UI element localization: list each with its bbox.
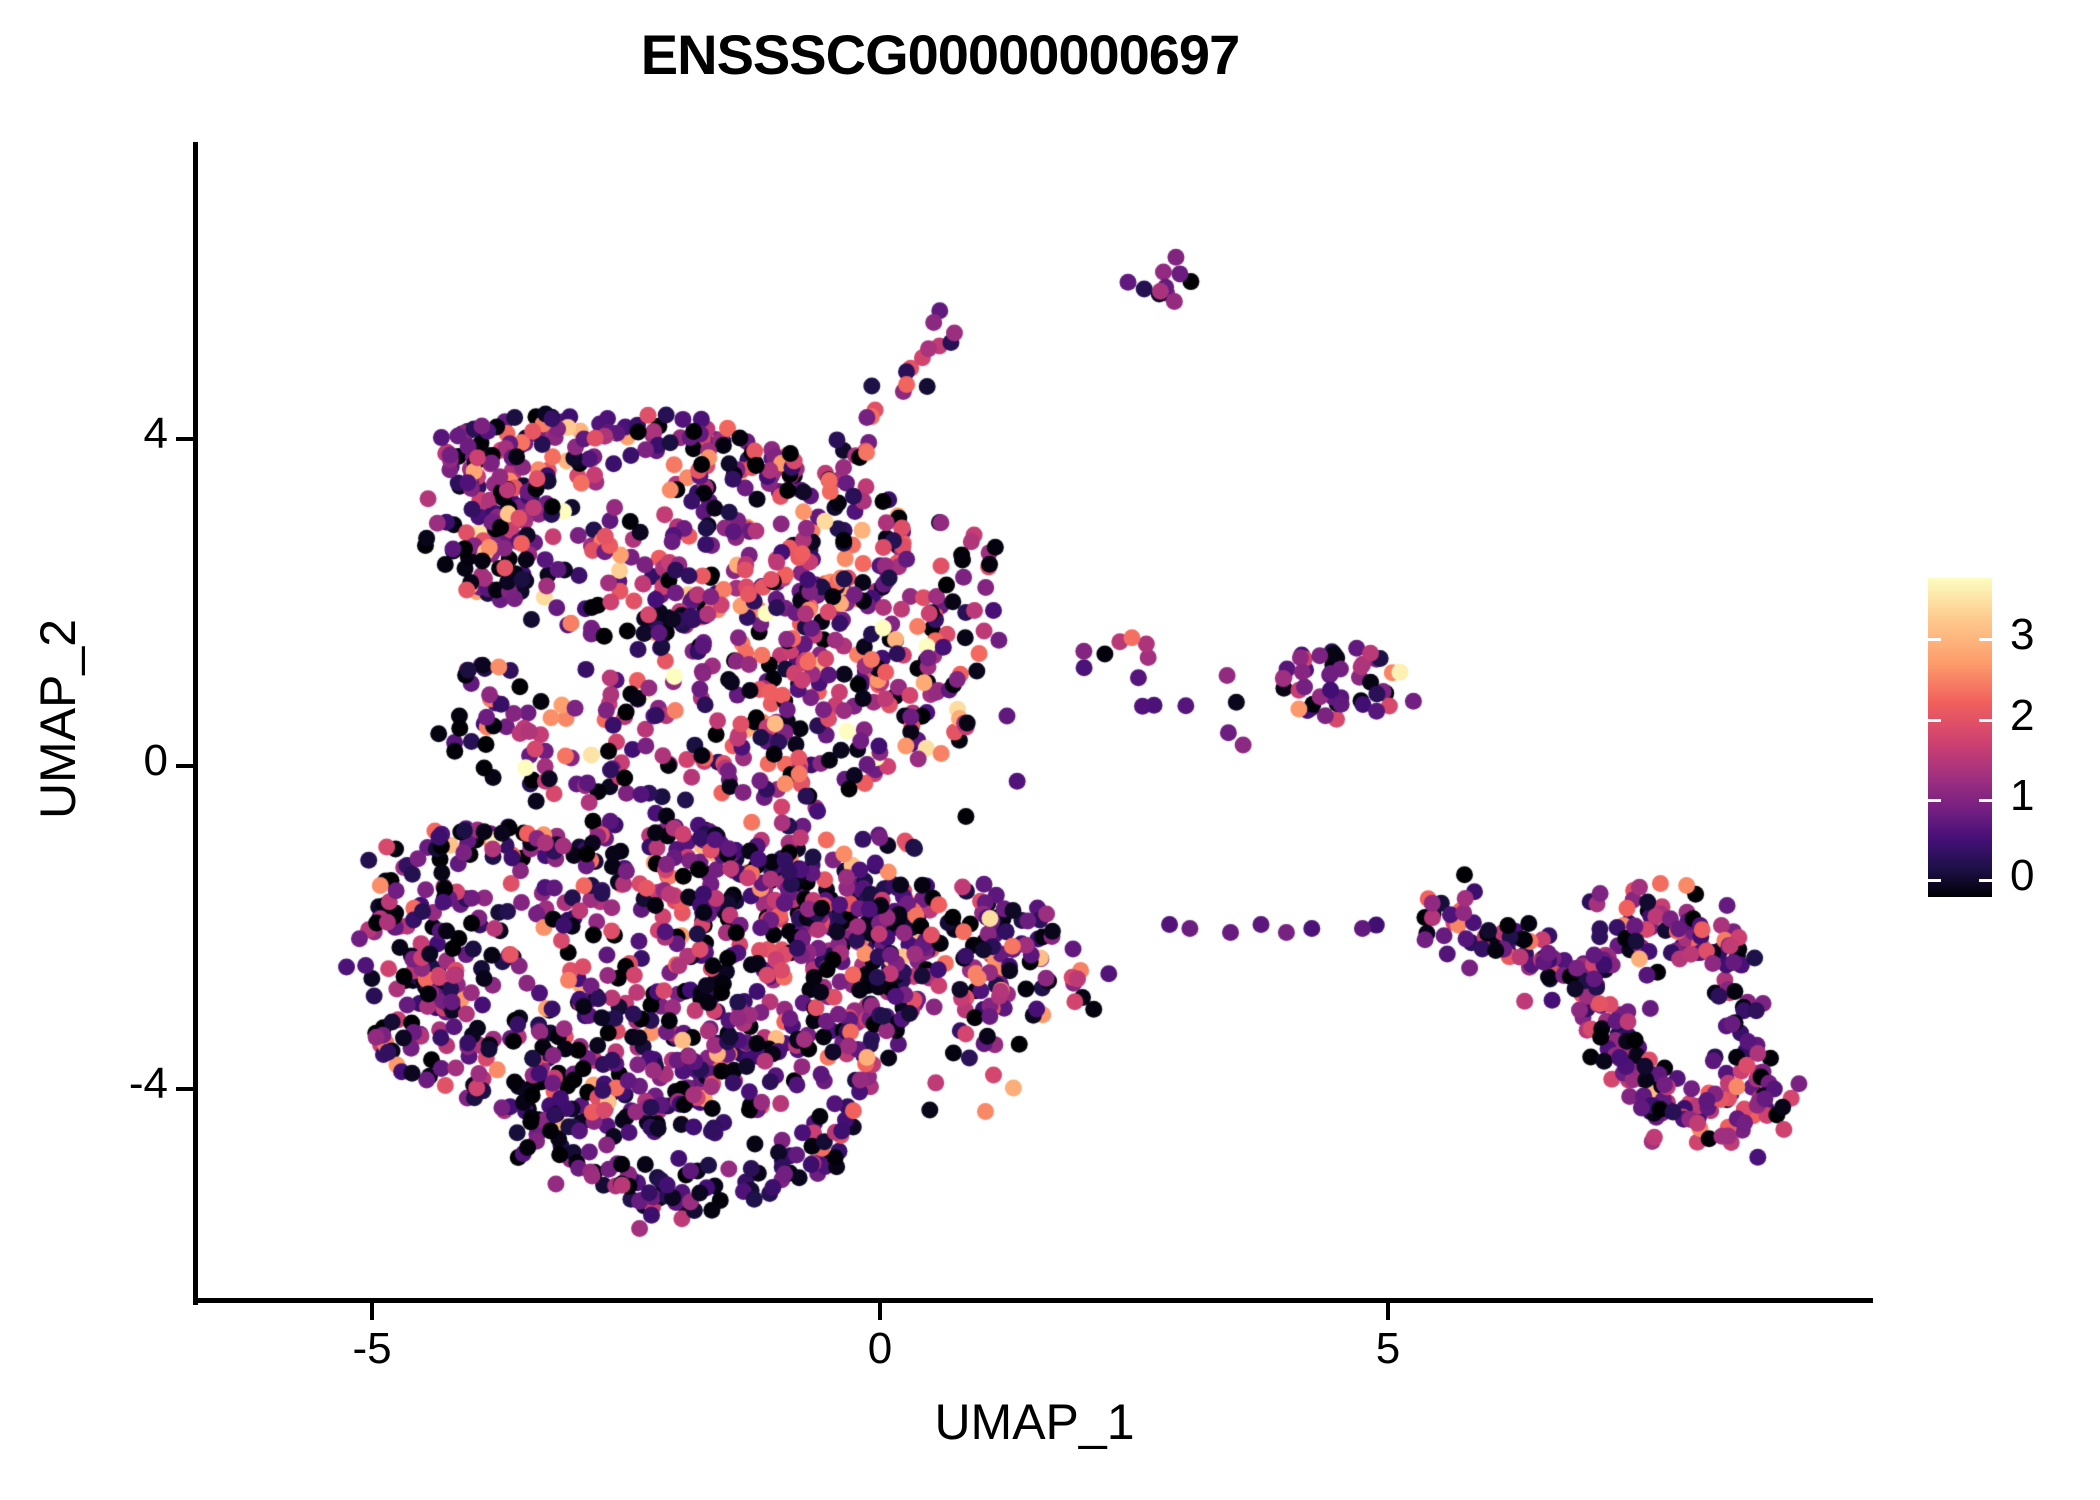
colorbar-tick-1-left xyxy=(1928,799,1941,802)
y-tick-label-4: 4 xyxy=(48,412,168,456)
y-axis-title: UMAP_2 xyxy=(29,539,87,899)
colorbar-legend xyxy=(1928,578,1992,897)
x-tick-mark-m5 xyxy=(370,1303,374,1320)
colorbar-label-2: 2 xyxy=(2010,694,2090,738)
y-tick-mark-m4 xyxy=(176,1087,193,1091)
colorbar-tick-1-right xyxy=(1979,799,1992,802)
colorbar-label-3: 3 xyxy=(2010,613,2090,657)
x-tick-mark-5 xyxy=(1386,1303,1390,1320)
y-tick-mark-4 xyxy=(176,437,193,441)
scatter-points-layer xyxy=(196,142,1873,1301)
x-tick-label-0: 0 xyxy=(780,1327,980,1371)
y-tick-mark-0 xyxy=(176,764,193,768)
scatter-plot-panel xyxy=(196,142,1873,1301)
colorbar-tick-0-right xyxy=(1979,879,1992,882)
colorbar-label-1: 1 xyxy=(2010,774,2090,818)
colorbar-tick-3-right xyxy=(1979,638,1992,641)
colorbar-gradient xyxy=(1928,578,1992,897)
colorbar-tick-2-left xyxy=(1928,719,1941,722)
colorbar-tick-0-left xyxy=(1928,879,1941,882)
x-tick-label-5: 5 xyxy=(1288,1327,1488,1371)
x-axis-title: UMAP_1 xyxy=(196,1393,1873,1451)
colorbar-tick-3-left xyxy=(1928,638,1941,641)
feature-plot-page: ENSSSCG00000000697 4 0 -4 -5 0 5 UMAP_1 … xyxy=(0,0,2100,1500)
colorbar-label-0: 0 xyxy=(2010,854,2090,898)
y-tick-label-minus-4: -4 xyxy=(48,1062,168,1106)
colorbar-tick-2-right xyxy=(1979,719,1992,722)
x-tick-mark-0 xyxy=(878,1303,882,1320)
x-tick-label-minus-5: -5 xyxy=(272,1327,472,1371)
x-axis-line xyxy=(193,1298,1873,1303)
page-title: ENSSSCG00000000697 xyxy=(0,22,1880,87)
y-axis-line xyxy=(193,142,198,1305)
